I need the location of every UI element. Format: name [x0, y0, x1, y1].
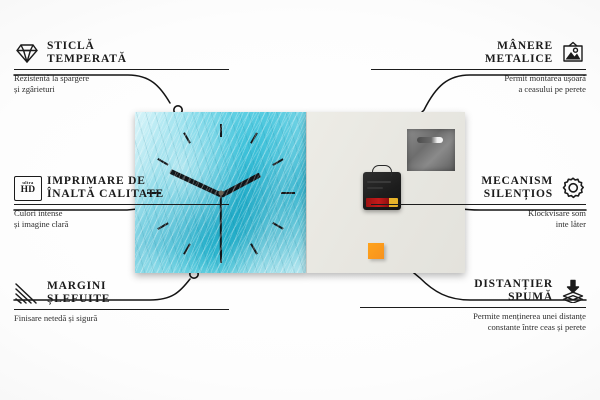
- callout-title: IMPRIMARE DE ÎNALTĂ CALITATE: [47, 175, 164, 201]
- infographic-canvas: STICLĂ TEMPERATĂ Rezistentă la spargere …: [0, 0, 600, 400]
- callout-divider: [14, 309, 229, 310]
- clock-tick: [183, 132, 191, 143]
- callout-polished-edges: MARGINI ȘLEFUITE Finisare netedă și sigu…: [14, 280, 229, 324]
- metal-hanger-bracket: [407, 129, 455, 171]
- callout-header: STICLĂ TEMPERATĂ: [14, 40, 229, 66]
- callout-divider: [371, 204, 586, 205]
- clock-tick: [183, 243, 191, 254]
- callout-divider: [371, 69, 586, 70]
- picture-hanger-icon: [560, 41, 586, 65]
- callout-high-quality-print: ultraHD IMPRIMARE DE ÎNALTĂ CALITATE Cul…: [14, 175, 229, 229]
- callout-foam-spacer: DISTANȚIER SPUMĂ Permite menținerea unei…: [360, 278, 586, 332]
- callout-divider: [14, 204, 229, 205]
- callout-subtitle: Culori intense și imagine clară: [14, 208, 229, 229]
- callout-header: MECANISM SILENȚIOS: [371, 175, 586, 201]
- clock-center-cap: [218, 190, 223, 195]
- clock-tick: [250, 132, 258, 143]
- callout-subtitle: Finisare netedă și sigură: [14, 313, 229, 323]
- clock-tick: [281, 192, 295, 194]
- callout-title: STICLĂ TEMPERATĂ: [47, 40, 127, 66]
- callout-metal-handles: MÂNERE METALICE Permit montarea ușoară a…: [371, 40, 586, 94]
- arrow-into-stack-icon: [560, 279, 586, 303]
- clock-tick: [250, 243, 258, 254]
- callout-tempered-glass: STICLĂ TEMPERATĂ Rezistentă la spargere …: [14, 40, 229, 94]
- ultra-hd-icon: ultraHD: [14, 176, 40, 200]
- callout-subtitle: Permit montarea ușoară a ceasului pe per…: [371, 73, 586, 94]
- foam-spacer-pad: [368, 243, 384, 259]
- callout-title: DISTANȚIER SPUMĂ: [474, 278, 553, 304]
- callout-divider: [14, 69, 229, 70]
- gear-icon: [560, 176, 586, 200]
- callout-header: DISTANȚIER SPUMĂ: [360, 278, 586, 304]
- callout-divider: [360, 307, 586, 308]
- callout-header: ultraHD IMPRIMARE DE ÎNALTĂ CALITATE: [14, 175, 229, 201]
- callout-header: MÂNERE METALICE: [371, 40, 586, 66]
- clock-tick: [272, 222, 283, 230]
- callout-title: MÂNERE METALICE: [485, 40, 553, 66]
- bevel-lines-icon: [14, 281, 40, 305]
- callout-header: MARGINI ȘLEFUITE: [14, 280, 229, 306]
- callout-silent-mechanism: MECANISM SILENȚIOS Klockvisare som inte …: [371, 175, 586, 229]
- callout-title: MECANISM SILENȚIOS: [481, 175, 553, 201]
- clock-tick: [272, 158, 283, 166]
- clock-tick: [220, 124, 222, 137]
- callout-subtitle: Permite menținerea unei distanțe constan…: [360, 311, 586, 332]
- callout-subtitle: Klockvisare som inte låter: [371, 208, 586, 229]
- callout-title: MARGINI ȘLEFUITE: [47, 280, 110, 306]
- clock-tick: [157, 158, 168, 166]
- hanger-slot: [417, 137, 443, 143]
- callout-subtitle: Rezistentă la spargere și zgârieturi: [14, 73, 229, 94]
- diamond-icon: [14, 41, 40, 65]
